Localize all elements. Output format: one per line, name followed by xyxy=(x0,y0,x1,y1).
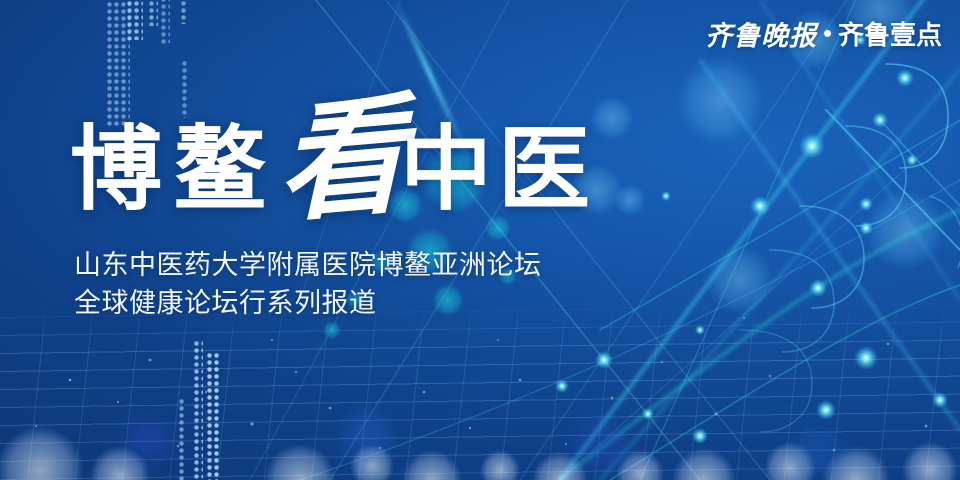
title-char-1: 博 xyxy=(70,124,162,216)
qilu-evening-news-logo[interactable]: 齐鲁晚报 齐鲁壹点 xyxy=(705,14,942,53)
banner-root: 齐鲁晚报 齐鲁壹点 博 鳌 看 中 医 山东中医药大学附属医院博鳌亚洲论坛 全球… xyxy=(0,0,960,480)
title-char-5: 医 xyxy=(498,124,590,216)
logo-block-text: 齐鲁壹点 xyxy=(838,15,942,52)
perspective-grid xyxy=(0,300,960,480)
subtitle-line-1: 山东中医药大学附属医院博鳌亚洲论坛 xyxy=(74,246,542,284)
logo-brush-text: 齐鲁晚报 xyxy=(705,14,817,53)
title-char-2: 鳌 xyxy=(174,124,266,216)
light-beams xyxy=(250,0,960,480)
circuit-lines xyxy=(300,0,960,480)
title-char-3-brush: 看 xyxy=(277,90,407,229)
bottom-bokeh xyxy=(0,412,958,480)
page-title: 博 鳌 看 中 医 xyxy=(70,112,710,232)
logo-separator-dot xyxy=(824,30,831,37)
star-specks xyxy=(35,317,928,451)
background-gradient xyxy=(0,0,960,480)
subtitle: 山东中医药大学附属医院博鳌亚洲论坛 全球健康论坛行系列报道 xyxy=(74,246,542,322)
network-lines-graphic xyxy=(0,0,960,480)
subtitle-line-2: 全球健康论坛行系列报道 xyxy=(74,284,542,322)
network-nodes xyxy=(555,34,948,444)
title-char-4: 中 xyxy=(400,124,492,216)
